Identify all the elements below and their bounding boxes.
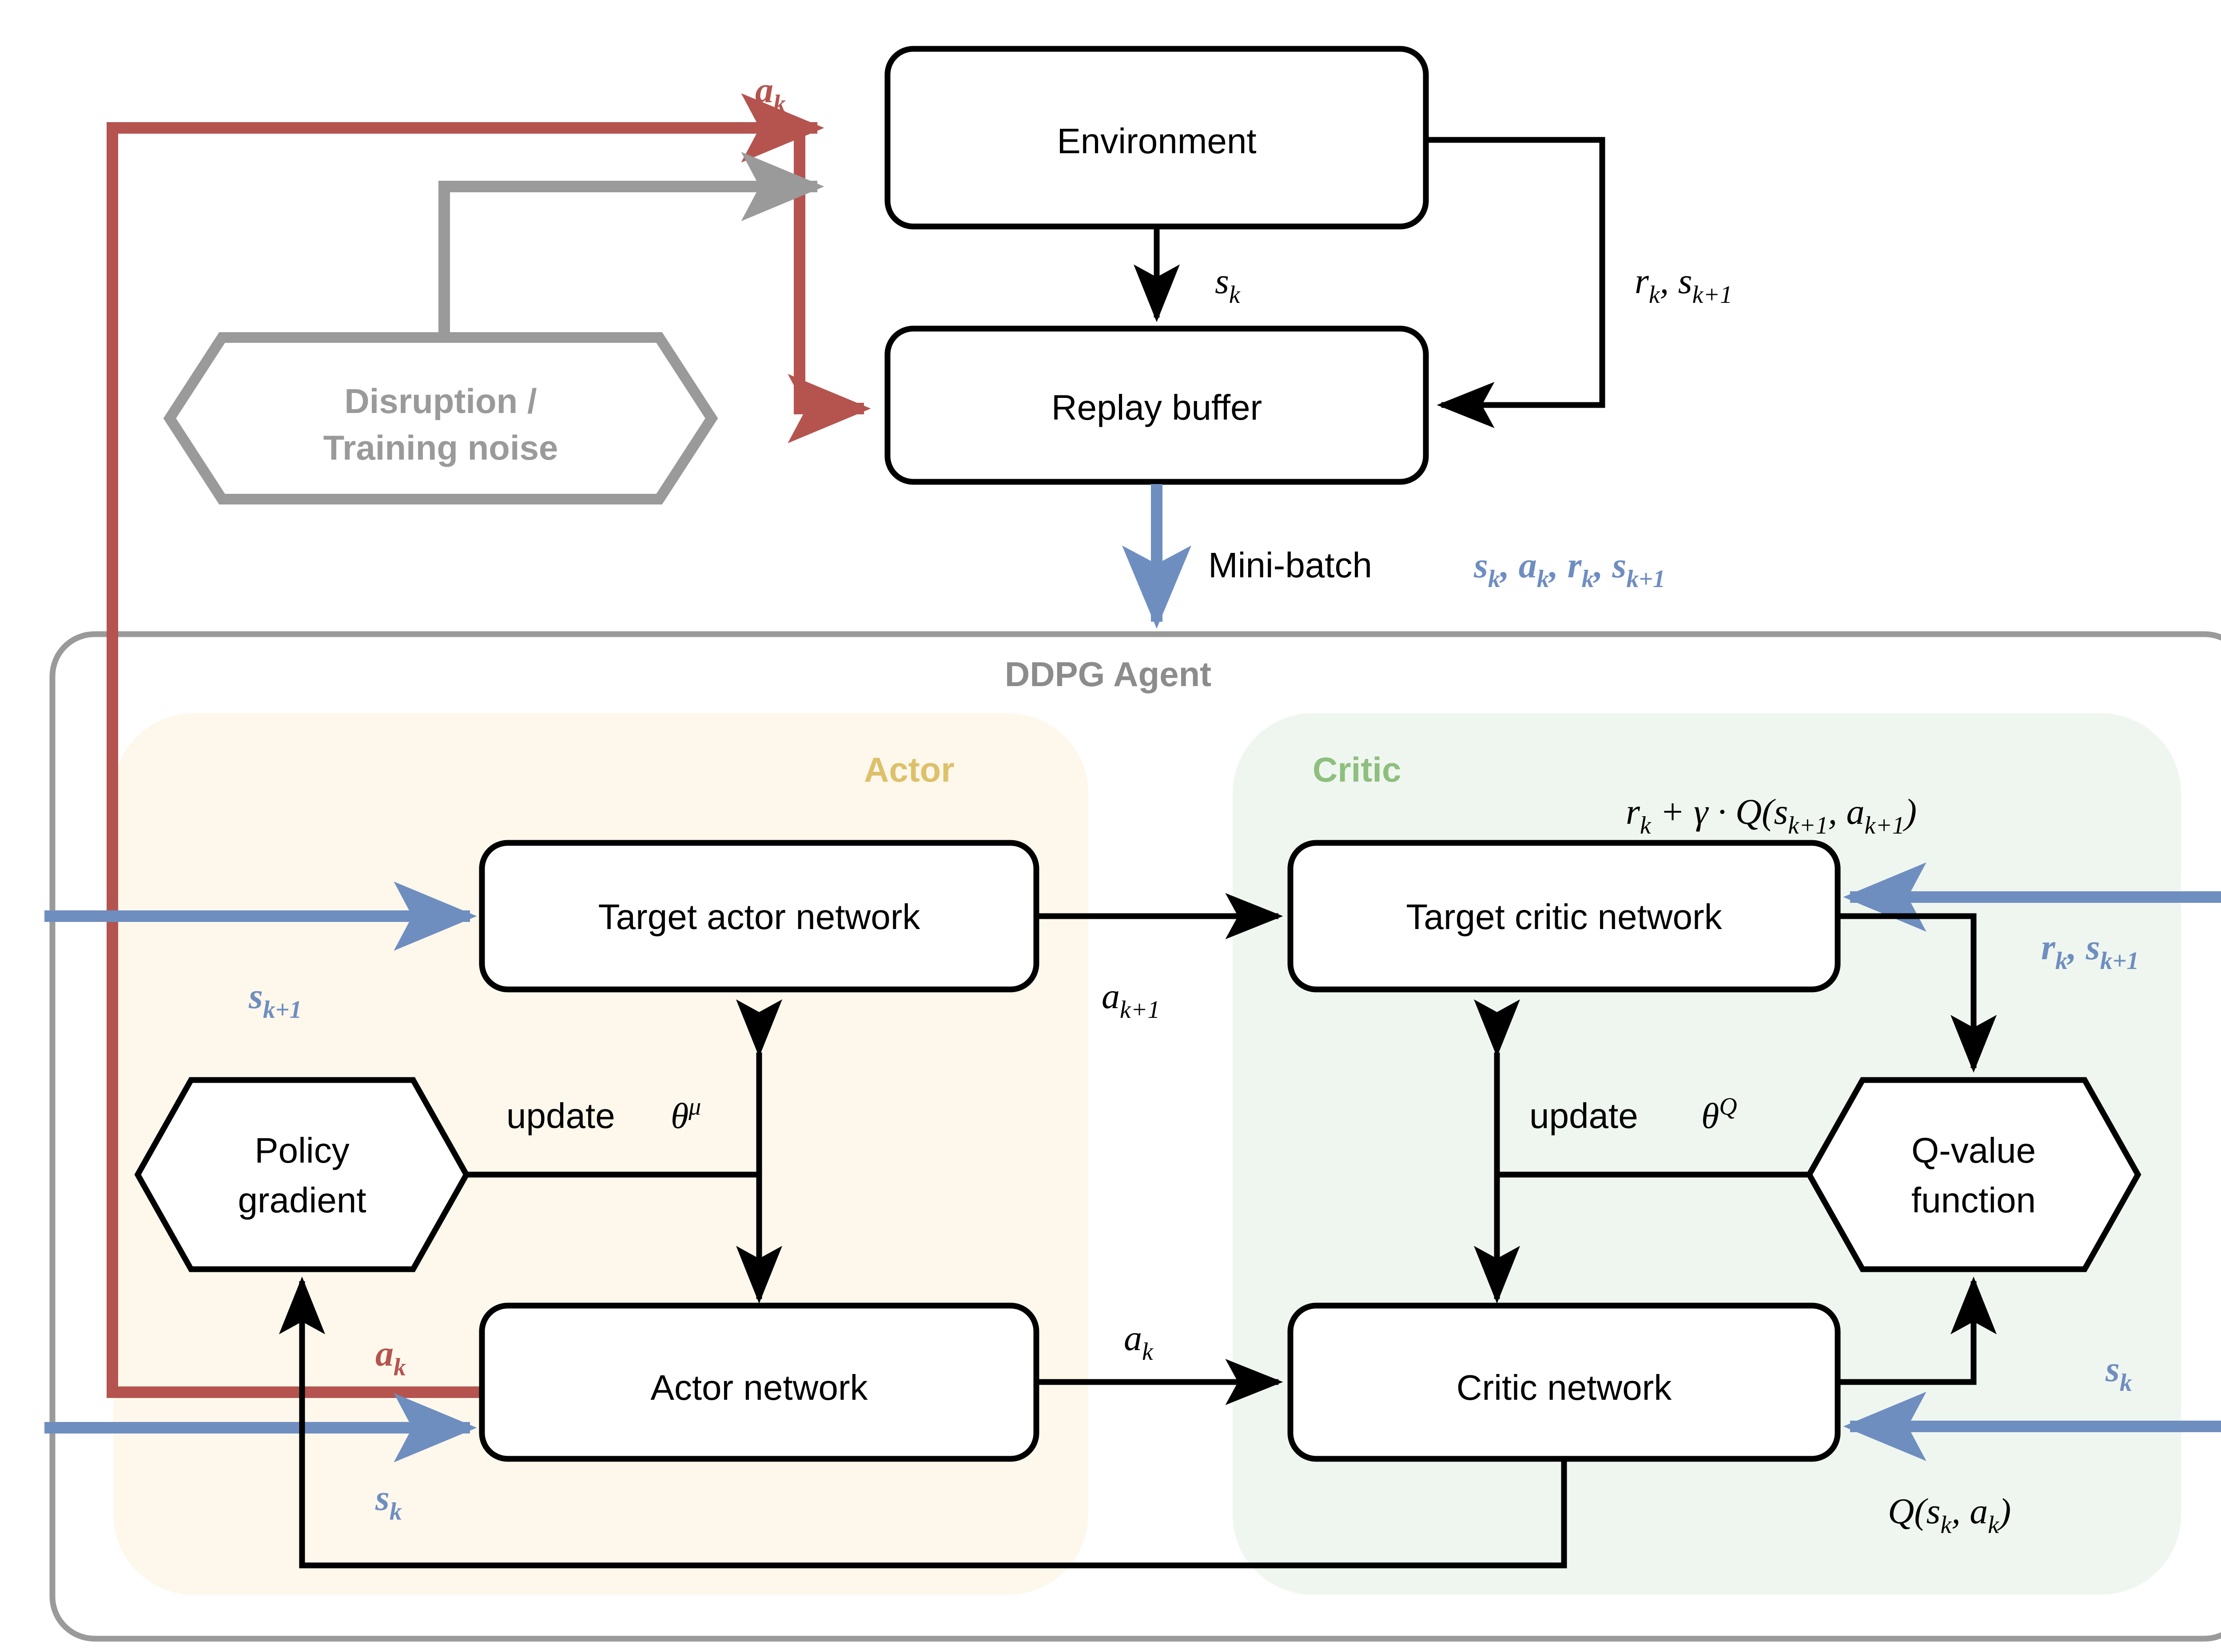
q-value-function-hexagon[interactable] xyxy=(1809,1080,2138,1269)
diagram-canvas: DDPG Agent Actor Critic Environment Repl… xyxy=(0,0,2221,1652)
actor-group-label: Actor xyxy=(864,750,955,789)
critic-group-label: Critic xyxy=(1313,750,1401,789)
actor-network-label: Actor network xyxy=(650,1368,868,1407)
action-k-label-top: ak xyxy=(755,70,786,118)
ddpg-agent-label: DDPG Agent xyxy=(1005,655,1211,694)
minibatch-text-label: Mini-batch xyxy=(1208,545,1372,585)
replay-buffer-label: Replay buffer xyxy=(1051,388,1262,427)
policy-gradient-hexagon[interactable] xyxy=(138,1080,466,1269)
action-feedback-red-branch xyxy=(800,128,864,409)
environment-label: Environment xyxy=(1057,121,1256,161)
disruption-label-line2: Training noise xyxy=(323,428,558,467)
policy-gradient-label-line2: gradient xyxy=(238,1180,366,1220)
target-critic-network-label: Target critic network xyxy=(1406,897,1722,937)
critic-network-label: Critic network xyxy=(1457,1368,1672,1407)
reward-nextstate-label: rk, sk+1 xyxy=(1635,261,1732,309)
q-value-function-label-line2: function xyxy=(1911,1180,2036,1220)
reward-nextstate-loop-arrow xyxy=(1426,140,1602,405)
next-action-label: ak+1 xyxy=(1102,976,1160,1024)
update-theta-mu-text: update xyxy=(506,1096,615,1136)
target-actor-network-label: Target actor network xyxy=(598,897,921,937)
disruption-label-line1: Disruption / xyxy=(344,381,537,421)
minibatch-math-label: sk, ak, rk, sk+1 xyxy=(1473,545,1665,593)
update-theta-q-text: update xyxy=(1529,1096,1638,1136)
policy-gradient-label-line1: Policy xyxy=(255,1131,349,1170)
q-value-function-label-line1: Q-value xyxy=(1911,1131,2036,1170)
disruption-to-environment-path xyxy=(444,187,817,338)
action-label-mid: ak xyxy=(1124,1318,1154,1366)
state-k-label-top: sk xyxy=(1215,261,1241,309)
ddpg-architecture-diagram: DDPG Agent Actor Critic Environment Repl… xyxy=(0,0,2221,1652)
